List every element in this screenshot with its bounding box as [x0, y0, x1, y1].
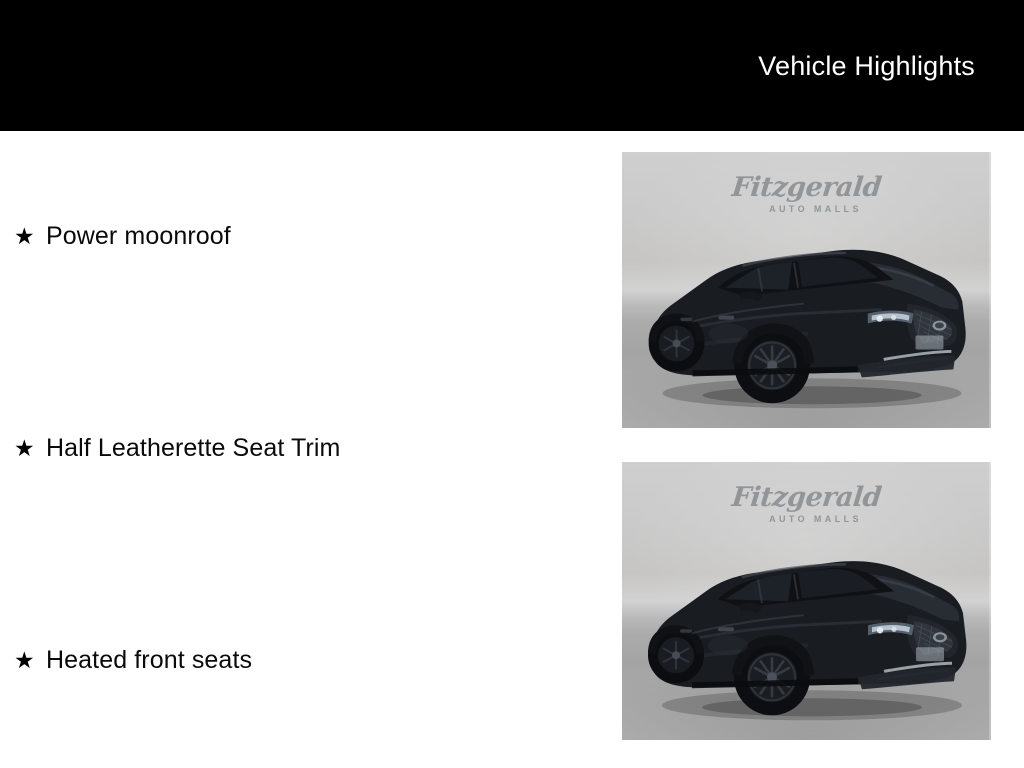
- list-item: ★ Power moonroof: [14, 221, 231, 251]
- vehicle-photo[interactable]: Fitzgerald AUTO MALLS: [622, 152, 991, 428]
- star-icon: ★: [14, 433, 46, 463]
- list-item-label: Power moonroof: [46, 221, 231, 251]
- list-item-label: Heated front seats: [46, 645, 252, 675]
- vehicle-photo[interactable]: Fitzgerald AUTO MALLS: [622, 462, 991, 740]
- star-icon: ★: [14, 645, 46, 675]
- list-item: ★ Heated front seats: [14, 645, 252, 675]
- list-item: ★ Half Leatherette Seat Trim: [14, 433, 340, 463]
- page-title: Vehicle Highlights: [758, 50, 975, 83]
- page-header: Vehicle Highlights: [0, 0, 1024, 131]
- star-icon: ★: [14, 221, 46, 251]
- vehicle-illustration: [622, 218, 991, 411]
- vehicle-highlights-list: ★ Power moonroof ★ Half Leatherette Seat…: [0, 131, 600, 768]
- main-content: ★ Power moonroof ★ Half Leatherette Seat…: [0, 131, 1024, 768]
- vehicle-illustration: [622, 529, 991, 724]
- list-item-label: Half Leatherette Seat Trim: [46, 433, 340, 463]
- photo-edge: [989, 462, 991, 740]
- photo-edge: [989, 152, 991, 428]
